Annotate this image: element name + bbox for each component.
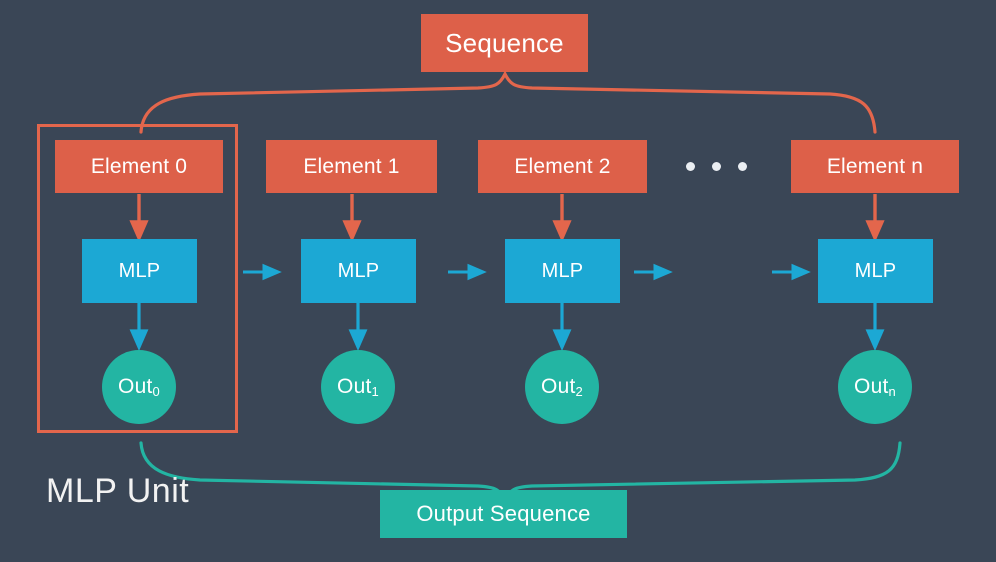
out-label-2: Out (541, 375, 575, 399)
sequence-title-box: Sequence (421, 14, 588, 72)
out-label-1: Out (337, 375, 371, 399)
output-sequence-title-box: Output Sequence (380, 490, 627, 538)
ellipsis-dots (686, 162, 747, 171)
mlp-unit-caption: MLP Unit (46, 472, 189, 511)
element-to-mlp-arrows (132, 194, 882, 238)
out-circle-n: Outn (838, 350, 912, 424)
element-box-n: Element n (791, 140, 959, 193)
out-subscript-2: 2 (576, 384, 583, 399)
mlp-to-out-arrows (132, 303, 882, 347)
element-box-0: Element 0 (55, 140, 223, 193)
mlp-box-1: MLP (301, 239, 416, 303)
out-label-0: Out (118, 375, 152, 399)
element-box-1: Element 1 (266, 140, 437, 193)
out-circle-1: Out1 (321, 350, 395, 424)
ellipsis-dot-3 (738, 162, 747, 171)
top-brace (141, 74, 875, 132)
ellipsis-dot-2 (712, 162, 721, 171)
out-circle-2: Out2 (525, 350, 599, 424)
out-label-n: Out (854, 375, 888, 399)
out-subscript-0: 0 (153, 384, 160, 399)
diagram-canvas: Sequence (0, 0, 996, 562)
out-subscript-1: 1 (372, 384, 379, 399)
mlp-box-2: MLP (505, 239, 620, 303)
mlp-box-0: MLP (82, 239, 197, 303)
ellipsis-dot-1 (686, 162, 695, 171)
out-circle-0: Out0 (102, 350, 176, 424)
element-box-2: Element 2 (478, 140, 647, 193)
out-subscript-n: n (889, 384, 896, 399)
mlp-box-n: MLP (818, 239, 933, 303)
